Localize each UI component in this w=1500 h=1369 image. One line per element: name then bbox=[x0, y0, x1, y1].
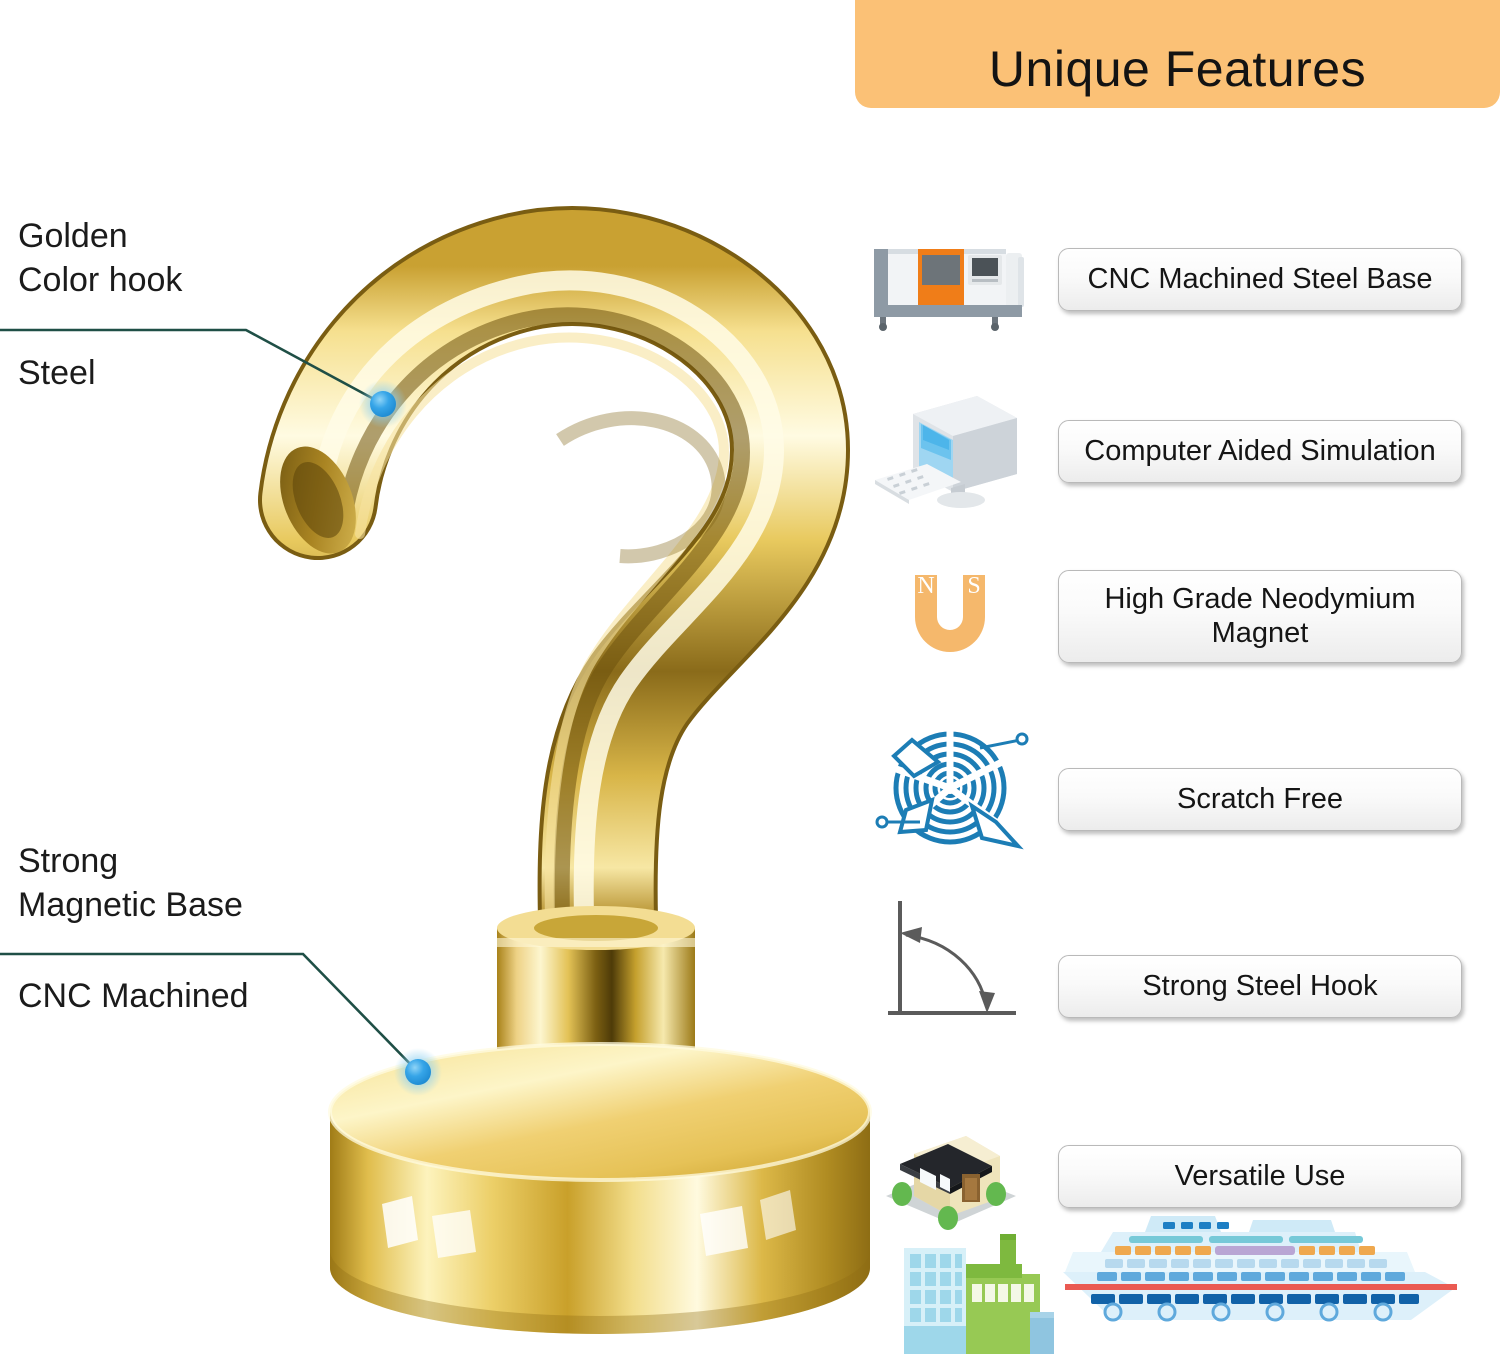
unique-features-banner: Unique Features bbox=[855, 0, 1500, 108]
hook-throat-shadow bbox=[560, 418, 719, 556]
page-title: Unique Features bbox=[855, 44, 1500, 94]
hook-annotation-subtitle: Steel bbox=[18, 352, 96, 396]
feature-label-versatile-use[interactable]: Versatile Use bbox=[1058, 1145, 1462, 1208]
hook-body bbox=[318, 266, 790, 920]
product-infographic: Unique Features bbox=[0, 0, 1500, 1369]
feature-list: CNC Machined Steel Base bbox=[855, 180, 1500, 1369]
feature-label-strong-steel-hook[interactable]: Strong Steel Hook bbox=[1058, 955, 1462, 1018]
house-icon bbox=[855, 1110, 1045, 1230]
cnc-machine-icon bbox=[855, 218, 1045, 338]
magnet-north-label: N bbox=[917, 573, 934, 599]
base-annotation-subtitle: CNC Machined bbox=[18, 975, 249, 1019]
product-photo-golden-magnetic-hook bbox=[0, 0, 860, 1369]
hook-marker-dot bbox=[359, 380, 407, 428]
hook-annotation-title: Golden Color hook bbox=[18, 215, 182, 302]
base-annotation-title: Strong Magnetic Base bbox=[18, 840, 243, 927]
scratch-free-icon bbox=[855, 728, 1045, 848]
feature-label-cnc-machined-steel-base[interactable]: CNC Machined Steel Base bbox=[1058, 248, 1462, 311]
cruise-ship-icon bbox=[1055, 1210, 1475, 1350]
arc-arrow-icon bbox=[855, 900, 1045, 1020]
factory-building-icon bbox=[890, 1220, 1050, 1369]
feature-label-scratch-free[interactable]: Scratch Free bbox=[1058, 768, 1462, 831]
magnet-south-label: S bbox=[967, 573, 980, 599]
horseshoe-magnet-icon: N S bbox=[855, 555, 1045, 675]
hook-illustration bbox=[0, 0, 860, 1369]
feature-label-computer-aided-simulation[interactable]: Computer Aided Simulation bbox=[1058, 420, 1462, 483]
feature-label-high-grade-neodymium-magnet[interactable]: High Grade Neodymium Magnet bbox=[1058, 570, 1462, 663]
base-marker-dot bbox=[394, 1048, 442, 1096]
computer-monitor-icon bbox=[855, 390, 1045, 510]
